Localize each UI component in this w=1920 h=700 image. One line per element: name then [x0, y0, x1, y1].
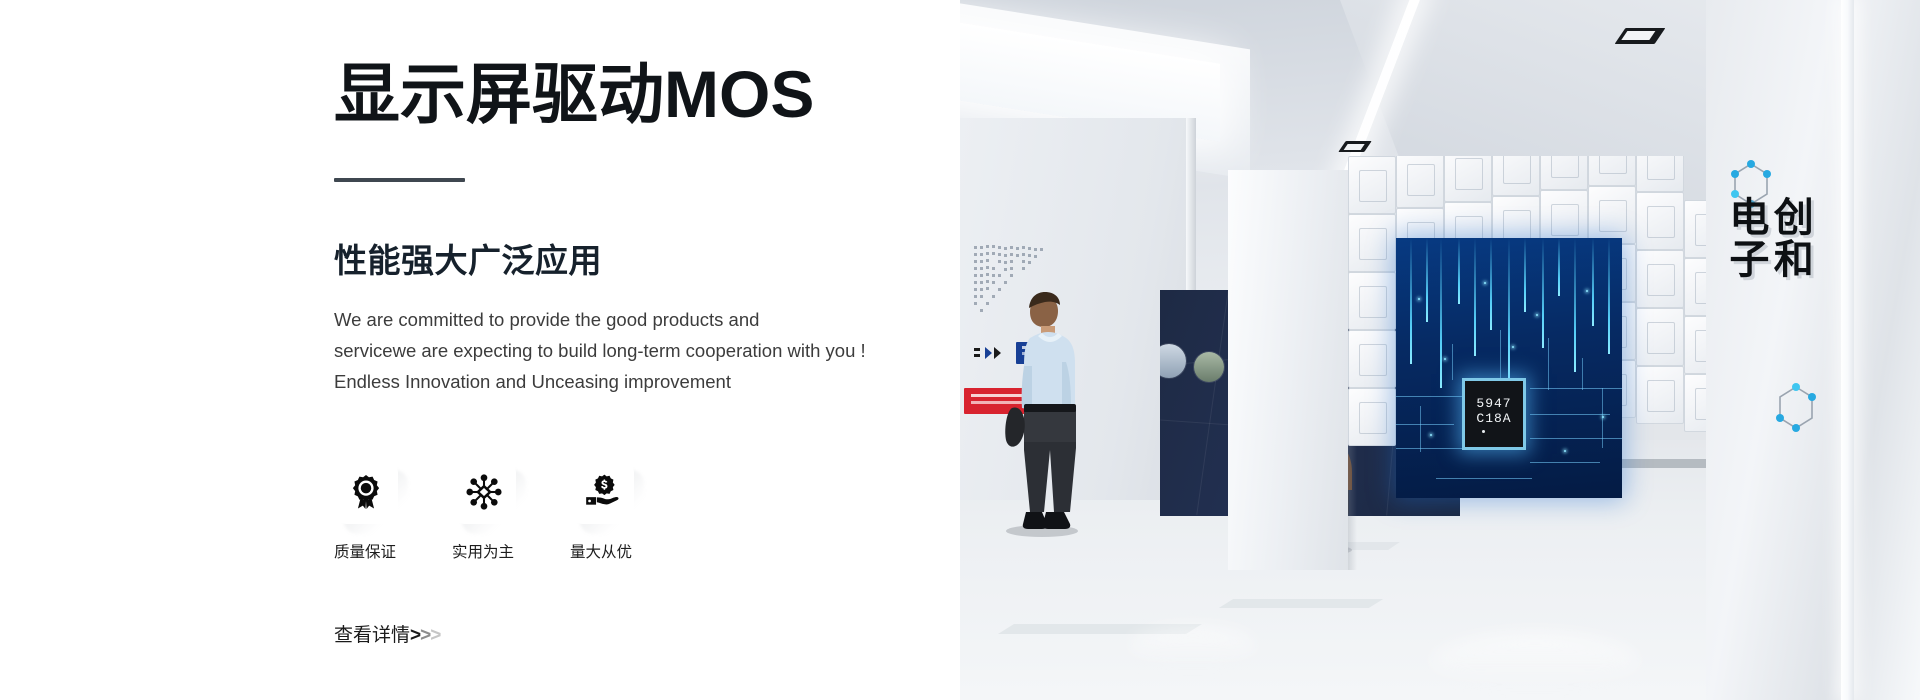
person-businessman [986, 288, 1084, 538]
wall-light-groove [1841, 0, 1854, 700]
wall-brand-column-left: 电子 [1724, 196, 1766, 280]
feature-list: 质量保证 [334, 460, 688, 562]
chip-code-line-1: 5947 [1476, 396, 1511, 411]
feature-item-practical[interactable]: 实用为主 [452, 460, 570, 562]
chip-code-line-2: C18A [1476, 411, 1511, 426]
hero-banner: 显示屏驱动MOS 性能强大广泛应用 We are committed to pr… [0, 0, 1920, 700]
floor-reflection [1430, 632, 1640, 690]
showroom-scene: 展示EXHIBITION [960, 0, 1920, 700]
wall-medallion [1160, 344, 1186, 378]
floor-tile [1219, 599, 1383, 608]
banner-copy-block: 显示屏驱动MOS 性能强大广泛应用 We are committed to pr… [334, 56, 934, 397]
network-hub-chip-icon [465, 473, 503, 511]
title-divider [334, 178, 465, 182]
brand-logo-wall: 创和 电子 [1706, 0, 1920, 700]
chevron-right-icon-3: > [430, 625, 440, 647]
banner-text-panel: 显示屏驱动MOS 性能强大广泛应用 We are committed to pr… [0, 0, 960, 700]
banner-subtitle: 性能强大广泛应用 [334, 234, 934, 282]
floor-reflection [1128, 626, 1258, 666]
page-title: 显示屏驱动MOS [334, 56, 934, 134]
description-line-2: servicewe are expecting to build long-te… [334, 335, 934, 366]
feature-label: 质量保证 [334, 540, 396, 562]
feature-label: 量大从优 [570, 540, 632, 562]
white-pillar [1228, 170, 1348, 570]
view-details-link[interactable]: 查看详情>>> [334, 620, 440, 647]
hand-money-gear-icon [583, 473, 621, 511]
award-medal-icon [347, 473, 385, 511]
feature-badge [452, 460, 516, 524]
feature-item-quality[interactable]: 质量保证 [334, 460, 452, 562]
chevron-right-icon-2: > [420, 625, 430, 647]
description-line-3: Endless Innovation and Unceasing improve… [334, 366, 934, 397]
led-display-screen: 5947 C18A [1396, 238, 1622, 498]
view-details-label: 查看详情 [334, 620, 410, 647]
feature-badge [570, 460, 634, 524]
wall-brand-name: 创和 电子 [1724, 196, 1811, 280]
chip-pin-marker [1482, 430, 1485, 433]
wall-medallion [1194, 352, 1224, 382]
feature-item-bulk-discount[interactable]: 量大从优 [570, 460, 688, 562]
chip-graphic: 5947 C18A [1462, 378, 1526, 450]
wall-brand-column-right: 创和 [1768, 196, 1810, 280]
feature-badge [334, 460, 398, 524]
banner-description: We are committed to provide the good pro… [334, 304, 934, 397]
chevron-right-icon-1: > [410, 625, 420, 647]
molecule-hexagon-icon [1772, 380, 1820, 440]
feature-label: 实用为主 [452, 540, 514, 562]
description-line-1: We are committed to provide the good pro… [334, 304, 934, 335]
showroom-photo: 展示EXHIBITION [960, 0, 1920, 700]
